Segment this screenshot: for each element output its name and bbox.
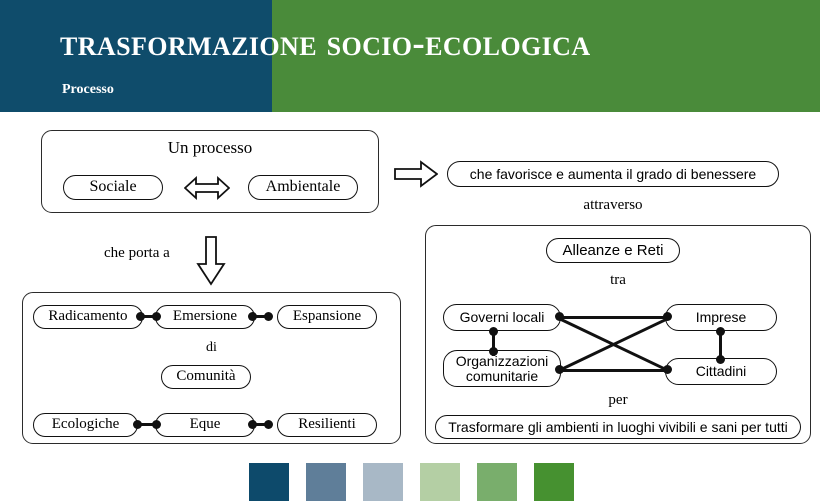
swatch-pale-green	[420, 463, 460, 501]
down-block-arrow-icon	[195, 236, 227, 286]
page-title: Trasformazione socio-ecologica	[60, 22, 591, 65]
connector-dot	[264, 312, 273, 321]
page-subtitle: Processo	[62, 82, 114, 98]
node-dot-imprese-bottom	[716, 327, 725, 336]
pill-ecologiche[interactable]: Ecologiche	[33, 413, 138, 437]
node-dot-governi	[555, 312, 564, 321]
connector-dot	[152, 312, 161, 321]
pill-benessere[interactable]: che favorisce e aumenta il grado di bene…	[447, 161, 779, 187]
right-block-arrow-icon	[394, 160, 438, 188]
pill-organizzazioni-line2: comunitarie	[466, 369, 538, 384]
node-dot-organizzazioni	[555, 365, 564, 374]
pill-governi-locali[interactable]: Governi locali	[443, 304, 561, 331]
pill-ambientale[interactable]: Ambientale	[248, 175, 358, 200]
node-dot-organizzazioni-top	[489, 347, 498, 356]
edge-organizzazioni-cittadini	[559, 369, 669, 372]
pill-espansione[interactable]: Espansione	[277, 305, 377, 329]
process-panel-heading: Un processo	[41, 138, 379, 158]
label-di: di	[22, 340, 401, 356]
swatch-slate-blue	[306, 463, 346, 501]
pill-sociale[interactable]: Sociale	[63, 175, 163, 200]
pill-trasformare-ambienti[interactable]: Trasformare gli ambienti in luoghi vivib…	[435, 415, 801, 439]
label-tra: tra	[425, 272, 811, 289]
swatch-dark-teal	[249, 463, 289, 501]
connector-dot	[248, 420, 257, 429]
label-che-porta-a: che porta a	[104, 245, 204, 262]
connector-dot	[136, 312, 145, 321]
pill-eque[interactable]: Eque	[155, 413, 255, 437]
pill-radicamento[interactable]: Radicamento	[33, 305, 143, 329]
edge-governi-imprese	[559, 316, 669, 319]
connector-dot	[264, 420, 273, 429]
connector-dot	[133, 420, 142, 429]
connector-dot	[152, 420, 161, 429]
pill-alleanze-e-reti[interactable]: Alleanze e Reti	[546, 238, 680, 263]
node-dot-governi-bottom	[489, 327, 498, 336]
pill-organizzazioni-line1: Organizzazioni	[456, 354, 549, 369]
node-dot-cittadini	[663, 365, 672, 374]
swatch-strong-green	[534, 463, 574, 501]
color-swatch-strip	[249, 463, 571, 501]
pill-resilienti[interactable]: Resilienti	[277, 413, 377, 437]
swatch-pale-blue-grey	[363, 463, 403, 501]
pill-emersione[interactable]: Emersione	[155, 305, 255, 329]
label-attraverso: attraverso	[447, 197, 779, 214]
connector-dot	[248, 312, 257, 321]
double-headed-horizontal-arrow-icon	[184, 175, 230, 201]
swatch-medium-green	[477, 463, 517, 501]
node-dot-imprese	[663, 312, 672, 321]
node-dot-cittadini-top	[716, 355, 725, 364]
label-per: per	[425, 392, 811, 409]
pill-comunita[interactable]: Comunità	[161, 365, 251, 389]
title-banner: Trasformazione socio-ecologica Processo	[0, 0, 820, 112]
pill-organizzazioni-comunitarie[interactable]: Organizzazioni comunitarie	[443, 350, 561, 387]
